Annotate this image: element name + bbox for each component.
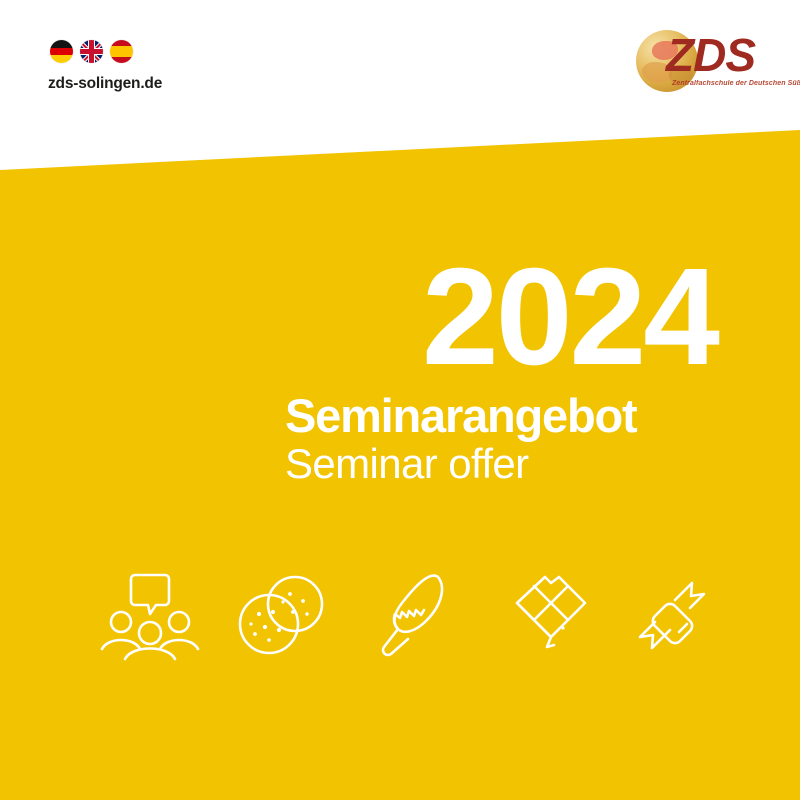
zds-wordmark: ZDS xyxy=(666,32,755,78)
hero-subtitle-german: Seminarangebot xyxy=(285,391,717,440)
hero-text-block: 2024 Seminarangebot Seminar offer xyxy=(285,252,717,487)
zds-tagline: Zentralfachschule der Deutschen Süßwaren… xyxy=(672,80,800,87)
ice-cream-bar-icon xyxy=(360,563,470,668)
hero-subtitle-english: Seminar offer xyxy=(285,442,717,486)
cookies-icon xyxy=(228,563,338,668)
language-flag-row xyxy=(50,40,298,63)
chocolate-bar-icon xyxy=(493,563,603,668)
poster-header: zds-solingen.de ZDS Zentralfachschule de… xyxy=(0,0,800,170)
brand-block: zds-solingen.de xyxy=(48,40,298,93)
flag-united-kingdom-icon[interactable] xyxy=(80,40,103,63)
zds-logo[interactable]: ZDS Zentralfachschule der Deutschen Süßw… xyxy=(630,28,770,104)
wrapped-candy-icon xyxy=(625,563,735,668)
flag-spain-icon[interactable] xyxy=(110,40,133,63)
poster-canvas: zds-solingen.de ZDS Zentralfachschule de… xyxy=(0,0,800,800)
hero-year: 2024 xyxy=(285,252,717,383)
site-url-text[interactable]: zds-solingen.de xyxy=(48,75,298,93)
flag-germany-icon[interactable] xyxy=(50,40,73,63)
people-speech-bubble-icon xyxy=(95,563,205,668)
product-icon-strip xyxy=(95,560,735,670)
